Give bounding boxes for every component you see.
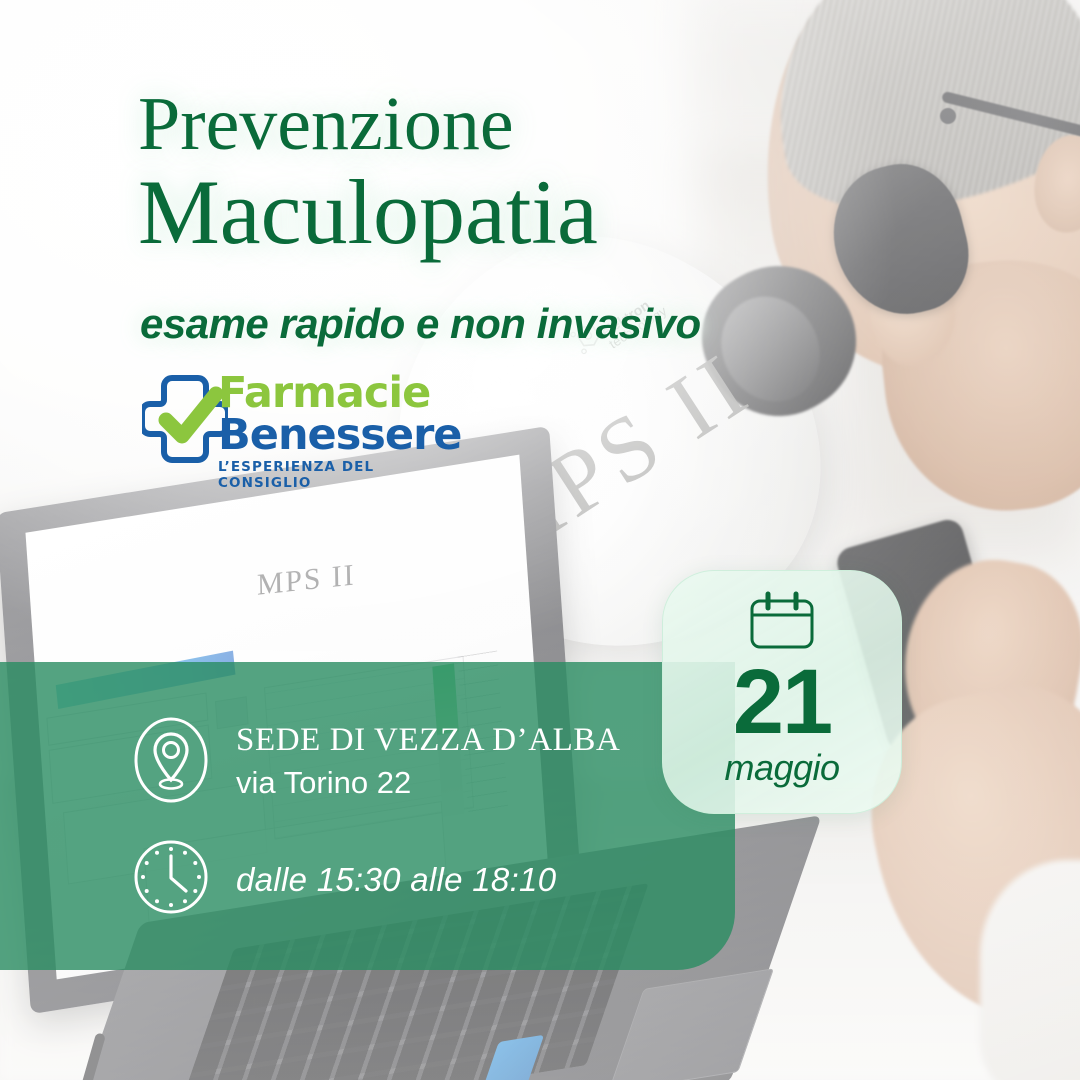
poster-canvas: elektron technology MPS II MPS II xyxy=(0,0,1080,1080)
time-text: dalle 15:30 alle 18:10 xyxy=(236,861,556,899)
brand-name-bottom: Benessere xyxy=(218,413,461,458)
headline-line-1: Prevenzione xyxy=(138,88,758,162)
brand-tagline: L’ESPERIENZA DEL CONSIGLIO xyxy=(218,459,461,491)
time-row: dalle 15:30 alle 18:10 xyxy=(132,838,556,921)
info-panel xyxy=(0,662,735,970)
brand-logo: Farmacie Benessere L’ESPERIENZA DEL CONS… xyxy=(142,372,452,472)
calendar-icon xyxy=(746,591,818,658)
clock-icon xyxy=(132,838,224,921)
headline-line-2: Maculopatia xyxy=(138,168,758,257)
subtitle: esame rapido e non invasivo xyxy=(140,300,701,348)
brand-logo-text: Farmacie Benessere L’ESPERIENZA DEL CONS… xyxy=(218,372,461,491)
venue-address: via Torino 22 xyxy=(236,764,620,803)
location-pin-icon xyxy=(132,716,224,809)
date-card: 21 maggio xyxy=(662,570,902,814)
location-text: SEDE DI VEZZA D’ALBA via Torino 22 xyxy=(236,722,620,803)
check-icon xyxy=(166,394,216,436)
location-row: SEDE DI VEZZA D’ALBA via Torino 22 xyxy=(132,716,620,809)
date-month: maggio xyxy=(724,747,839,789)
venue-name: SEDE DI VEZZA D’ALBA xyxy=(236,722,620,760)
page-title: Prevenzione Maculopatia xyxy=(138,88,758,257)
date-day: 21 xyxy=(733,660,831,745)
brand-name-top: Farmacie xyxy=(218,372,461,415)
pharmacy-cross-icon xyxy=(142,372,228,468)
